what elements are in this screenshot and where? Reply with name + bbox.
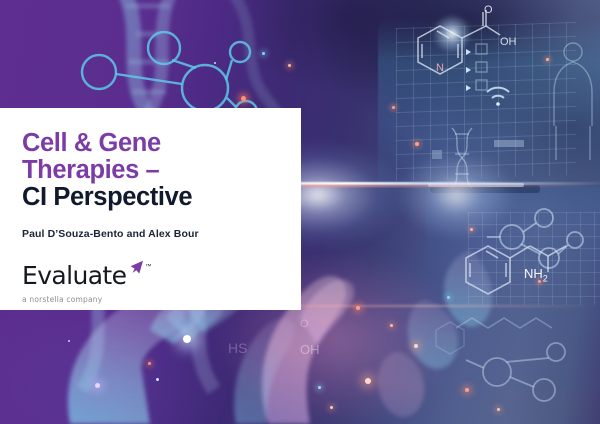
panel-ui-squares — [432, 44, 524, 159]
evaluate-swoosh-icon — [127, 260, 144, 282]
page-title: Cell & Gene Therapies – CI Perspective — [22, 130, 281, 211]
title-line-3: CI Perspective — [22, 183, 192, 211]
human-silhouette-icon — [554, 43, 592, 160]
evaluate-logo: Evaluate ™ a norstella company — [22, 263, 281, 304]
logo-tagline: a norstella company — [22, 295, 281, 304]
molecule-node-icon-right — [487, 209, 583, 268]
molecule-node-icon-bottom — [466, 343, 565, 401]
title-line-1: Cell & Gene — [22, 129, 161, 157]
authors: Paul D’Souza-Bento and Alex Bour — [22, 228, 281, 240]
wifi-icon — [487, 88, 509, 106]
glowing-hand-right — [378, 250, 493, 417]
pyridine-ring-icon — [418, 10, 500, 74]
logo-trademark: ™ — [145, 264, 151, 270]
dna-helix-small-icon — [452, 128, 472, 188]
title-card: Cell & Gene Therapies – CI Perspective P… — [0, 108, 301, 310]
report-cover-page: O OH N NH2 HS OH O Cell & Gene Therapies… — [0, 0, 600, 424]
title-line-2: Therapies – — [22, 156, 159, 184]
logo-wordmark: Evaluate — [22, 263, 126, 288]
